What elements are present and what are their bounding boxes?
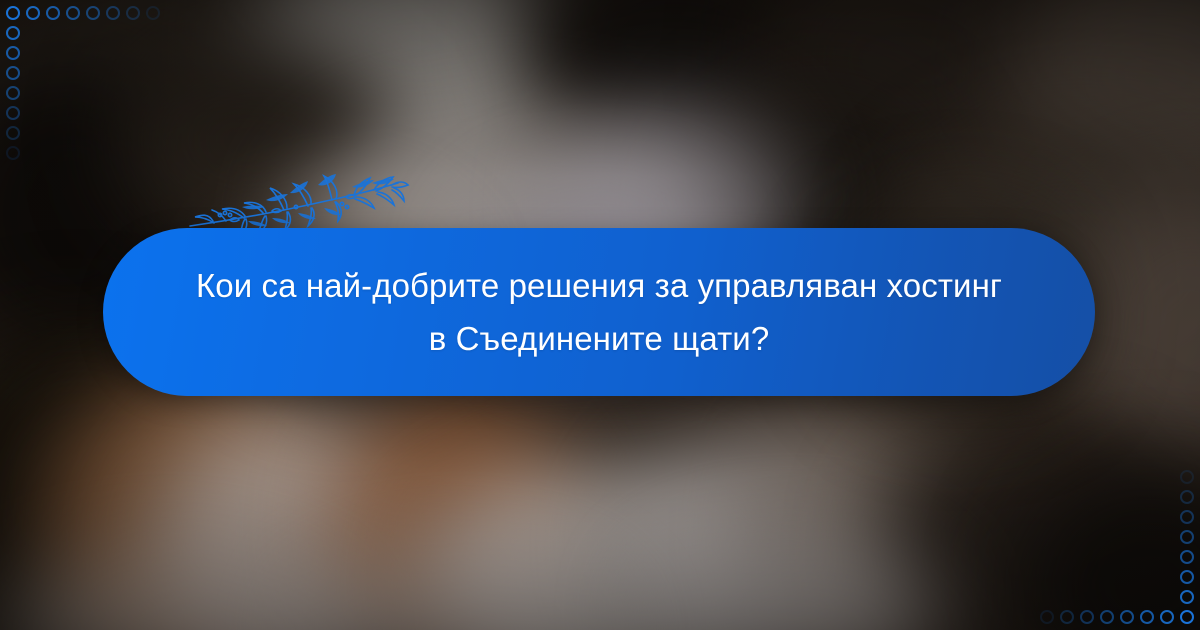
share-card-canvas: Кои са най-добрите решения за управляван… [0,0,1200,630]
headline-pill[interactable]: Кои са най-добрите решения за управляван… [103,228,1095,396]
page-title: Кои са най-добрите решения за управляван… [193,259,1005,366]
